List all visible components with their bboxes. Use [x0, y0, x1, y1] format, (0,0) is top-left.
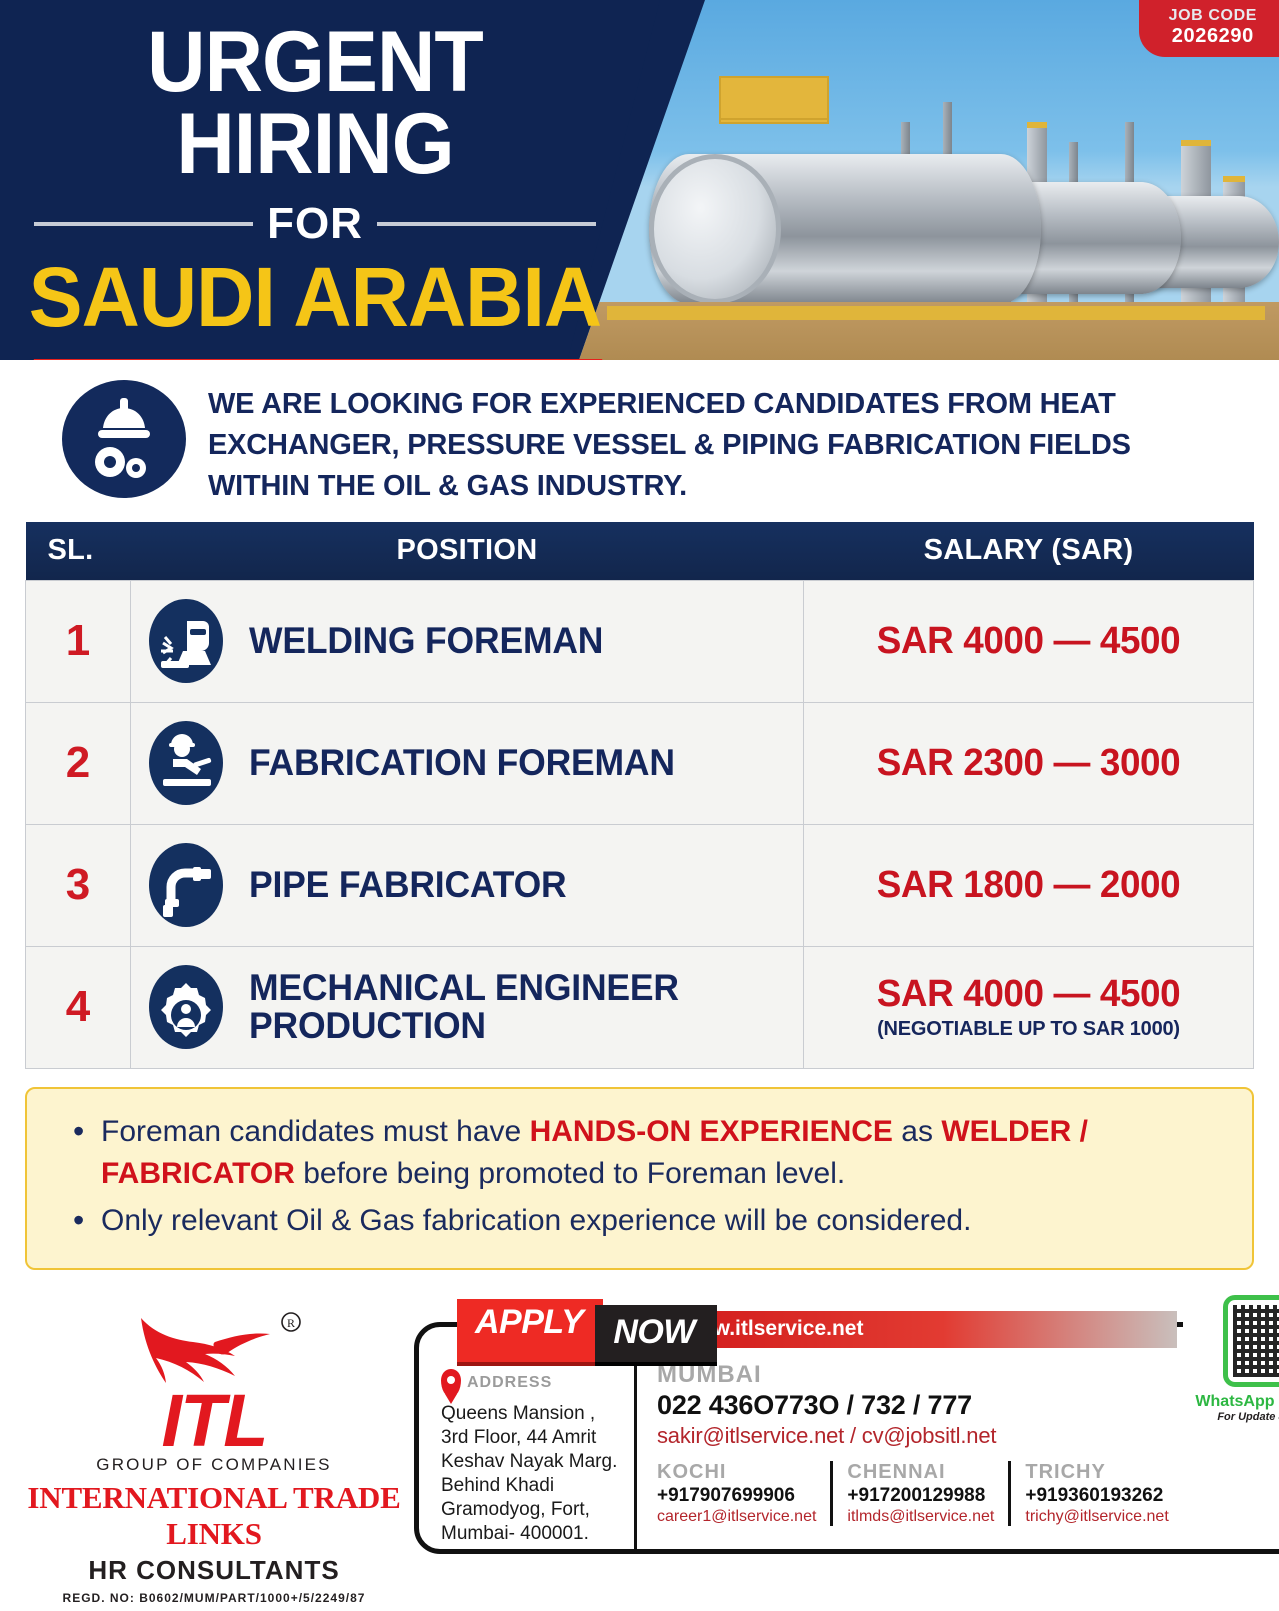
contact-card: APPLY NOW www.itlservice.net ADDRESS Que…: [414, 1322, 1279, 1554]
whatsapp-caption: WhatsApp Channel: [1187, 1393, 1279, 1411]
salary-value: SAR 4000 — 4500: [818, 620, 1238, 663]
row-position-cell: FABRICATION FOREMAN: [131, 702, 804, 824]
row-position-cell: MECHANICAL ENGINEER PRODUCTION: [131, 946, 804, 1068]
branch-email[interactable]: trichy@itlservice.net: [1025, 1508, 1168, 1526]
main-city-name: MUMBAI: [657, 1361, 1183, 1389]
note-1-part-c: as: [893, 1115, 941, 1148]
whatsapp-channel-word: Channel: [1275, 1393, 1279, 1410]
apply-label: APPLY: [457, 1299, 603, 1362]
row-position-cell: PIPE FABRICATOR: [131, 824, 804, 946]
company-name: INTERNATIONAL TRADE LINKS: [14, 1480, 414, 1552]
note-1-part-e: before being promoted to Foreman level.: [295, 1157, 845, 1190]
note-1-part-a: Foreman candidates must have: [101, 1115, 530, 1148]
page-title: URGENT HIRING: [19, 22, 611, 185]
main-city-email[interactable]: sakir@itlservice.net / cv@jobsitl.net: [657, 1423, 1183, 1449]
welder-icon: [149, 599, 223, 683]
company-logo-block: R ITL GROUP OF COMPANIES INTERNATIONAL T…: [14, 1292, 414, 1605]
list-item: KOCHI +917907699906 career1@itlservice.n…: [657, 1461, 830, 1526]
poster-header: JOB CODE 2026290 URGENT HIRING FOR SAUDI…: [0, 0, 1279, 360]
rule-right: [377, 222, 596, 226]
conditions-box: Foreman candidates must have HANDS-ON EX…: [25, 1087, 1254, 1271]
column-header-position: POSITION: [131, 522, 804, 581]
row-position-cell: WELDING FOREMAN: [131, 580, 804, 702]
project-subtitle: OIL & GAS PROJECT — LONG TERM OPPORTUNIT…: [34, 359, 602, 360]
salary-value: SAR 4000 — 4500: [818, 973, 1238, 1016]
list-item: Foreman candidates must have HANDS-ON EX…: [57, 1111, 1222, 1196]
address-label: ADDRESS: [467, 1374, 552, 1392]
website-link[interactable]: www.itlservice.net: [657, 1311, 1177, 1348]
row-salary-cell: SAR 4000 — 4500: [804, 580, 1254, 702]
note-2-text: Only relevant Oil & Gas fabrication expe…: [101, 1204, 971, 1237]
job-code-value: 2026290: [1169, 25, 1257, 47]
poster-footer: R ITL GROUP OF COMPANIES INTERNATIONAL T…: [0, 1270, 1279, 1611]
branch-phone[interactable]: +917200129988: [847, 1485, 994, 1507]
company-tagline: HR CONSULTANTS: [14, 1555, 414, 1586]
address-text: Queens Mansion , 3rd Floor, 44 Amrit Kes…: [441, 1402, 624, 1546]
map-pin-icon: [441, 1369, 461, 1397]
salary-note: (NEGOTIABLE UP TO SAR 1000): [812, 1018, 1245, 1041]
pipe-elbow-icon: [149, 843, 223, 927]
branch-phone[interactable]: +917907699906: [657, 1485, 816, 1507]
qr-code-icon[interactable]: [1223, 1295, 1279, 1387]
row-number: 4: [26, 946, 131, 1068]
svg-text:R: R: [287, 1316, 295, 1330]
apply-now-tag: APPLY NOW: [457, 1299, 717, 1362]
row-salary-cell: SAR 4000 — 4500 (NEGOTIABLE UP TO SAR 10…: [804, 946, 1254, 1068]
job-code-badge: JOB CODE 2026290: [1139, 0, 1279, 57]
intro-section: WE ARE LOOKING FOR EXPERIENCED CANDIDATE…: [0, 360, 1279, 516]
row-number: 3: [26, 824, 131, 946]
logo-group-text: GROUP OF COMPANIES: [14, 1455, 414, 1475]
whatsapp-brand: WhatsApp: [1195, 1393, 1274, 1410]
branch-list: KOCHI +917907699906 career1@itlservice.n…: [657, 1461, 1183, 1526]
now-label: NOW: [595, 1305, 717, 1362]
position-label: PIPE FABRICATOR: [249, 866, 567, 904]
position-label: FABRICATION FOREMAN: [249, 744, 675, 782]
table-row: 4: [26, 946, 1254, 1068]
list-item: Only relevant Oil & Gas fabrication expe…: [57, 1200, 1222, 1243]
column-header-salary: SALARY (SAR): [804, 522, 1254, 581]
column-header-sl: SL.: [26, 522, 131, 581]
whatsapp-subcaption: For Update & Alerts: [1187, 1411, 1279, 1423]
contacts-block: MUMBAI 022 436O773O / 732 / 777 sakir@it…: [637, 1327, 1183, 1549]
fabricator-worker-icon: [149, 721, 223, 805]
rule-left: [34, 222, 253, 226]
branch-name: CHENNAI: [847, 1461, 994, 1484]
country-title: SAUDI ARABIA: [13, 255, 618, 339]
logo-itl-text: ITL: [14, 1388, 414, 1453]
gear-engineer-icon: [149, 965, 223, 1049]
whatsapp-qr-block: WhatsApp Channel For Update & Alerts: [1183, 1283, 1279, 1549]
row-salary-cell: SAR 1800 — 2000: [804, 824, 1254, 946]
registration-number: REGD. NO: B0602/MUM/PART/1000+/5/2249/87: [14, 1591, 414, 1605]
positions-table-wrap: SL. POSITION SALARY (SAR) 1: [0, 516, 1279, 1069]
list-item: TRICHY +919360193262 trichy@itlservice.n…: [1008, 1461, 1182, 1526]
row-number: 1: [26, 580, 131, 702]
row-number: 2: [26, 702, 131, 824]
branch-phone[interactable]: +919360193262: [1025, 1485, 1168, 1507]
branch-name: KOCHI: [657, 1461, 816, 1484]
list-item: CHENNAI +917200129988 itlmds@itlservice.…: [830, 1461, 1008, 1526]
branch-email[interactable]: career1@itlservice.net: [657, 1508, 816, 1526]
positions-table: SL. POSITION SALARY (SAR) 1: [25, 522, 1254, 1069]
job-code-label: JOB CODE: [1169, 7, 1257, 25]
for-divider-row: FOR: [34, 199, 596, 249]
main-city-phone[interactable]: 022 436O773O / 732 / 777: [657, 1390, 1183, 1421]
branch-name: TRICHY: [1025, 1461, 1168, 1484]
table-row: 3: [26, 824, 1254, 946]
table-row: 1: [26, 580, 1254, 702]
table-header-row: SL. POSITION SALARY (SAR): [26, 522, 1254, 581]
salary-value: SAR 2300 — 3000: [818, 742, 1238, 785]
for-label: FOR: [267, 199, 363, 249]
branch-email[interactable]: itlmds@itlservice.net: [847, 1508, 994, 1526]
position-label: MECHANICAL ENGINEER PRODUCTION: [249, 969, 771, 1044]
header-text-block: URGENT HIRING FOR SAUDI ARABIA OIL & GAS…: [0, 0, 630, 360]
salary-value: SAR 1800 — 2000: [818, 864, 1238, 907]
hard-hat-gears-icon: [62, 380, 186, 498]
row-salary-cell: SAR 2300 — 3000: [804, 702, 1254, 824]
intro-text: WE ARE LOOKING FOR EXPERIENCED CANDIDATE…: [208, 380, 1239, 508]
note-1-highlight-1: HANDS-ON EXPERIENCE: [530, 1115, 893, 1148]
table-row: 2: [26, 702, 1254, 824]
position-label: WELDING FOREMAN: [249, 622, 603, 660]
